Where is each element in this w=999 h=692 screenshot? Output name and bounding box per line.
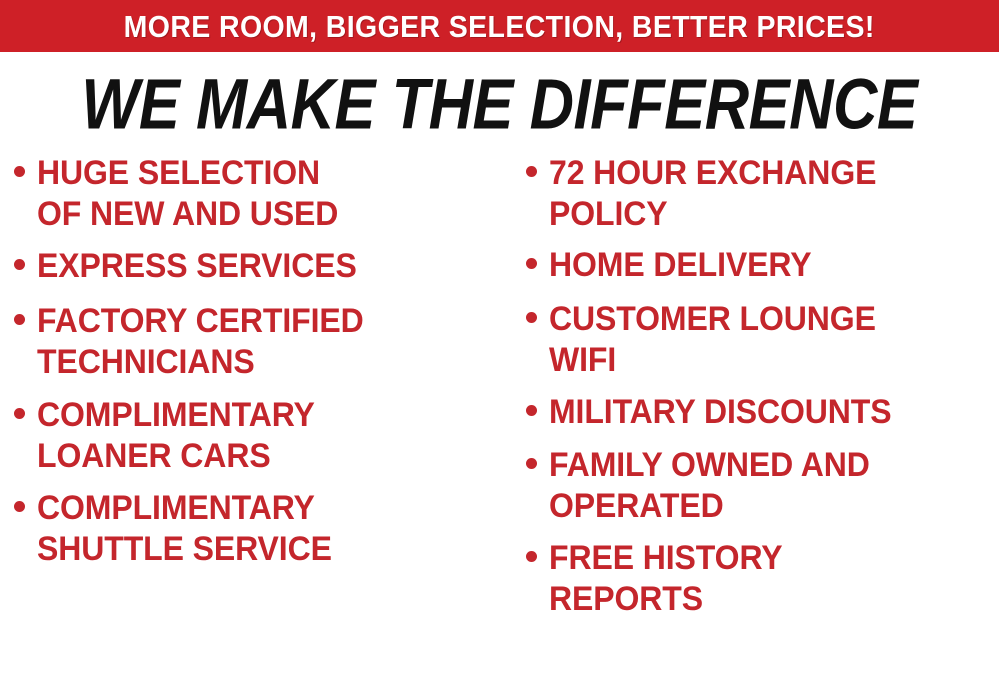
bullet-dot-icon bbox=[14, 501, 25, 512]
list-item-label: HOME DELIVERY bbox=[549, 244, 811, 285]
bullet-dot-icon bbox=[14, 408, 25, 419]
list-item: COMPLIMENTARY SHUTTLE SERVICE bbox=[14, 487, 508, 564]
list-item: EXPRESS SERVICES bbox=[14, 245, 508, 284]
bullet-dot-icon bbox=[526, 551, 537, 562]
list-item: 72 HOUR EXCHANGE POLICY bbox=[526, 152, 999, 229]
list-item-label: MILITARY DISCOUNTS bbox=[549, 391, 892, 432]
list-item: HUGE SELECTION OF NEW AND USED bbox=[14, 152, 508, 229]
list-item-label: FACTORY CERTIFIED TECHNICIANS bbox=[37, 300, 364, 382]
feature-column-right: 72 HOUR EXCHANGE POLICY HOME DELIVERY CU… bbox=[508, 152, 999, 629]
list-item-label: 72 HOUR EXCHANGE POLICY bbox=[549, 152, 876, 234]
feature-columns: HUGE SELECTION OF NEW AND USED EXPRESS S… bbox=[0, 152, 999, 692]
bullet-dot-icon bbox=[526, 405, 537, 416]
list-item-label: EXPRESS SERVICES bbox=[37, 245, 357, 286]
list-item: MILITARY DISCOUNTS bbox=[526, 391, 999, 430]
list-item-label: FAMILY OWNED AND OPERATED bbox=[549, 444, 870, 526]
page-title: WE MAKE THE DIFFERENCE bbox=[82, 68, 918, 140]
list-item-label: FREE HISTORY REPORTS bbox=[549, 537, 783, 619]
bullet-dot-icon bbox=[526, 258, 537, 269]
list-item: CUSTOMER LOUNGE WIFI bbox=[526, 298, 999, 375]
list-item-label: HUGE SELECTION OF NEW AND USED bbox=[37, 152, 338, 234]
list-item: FACTORY CERTIFIED TECHNICIANS bbox=[14, 300, 508, 377]
list-item: HOME DELIVERY bbox=[526, 244, 999, 283]
list-item: FREE HISTORY REPORTS bbox=[526, 537, 999, 614]
list-item: COMPLIMENTARY LOANER CARS bbox=[14, 394, 508, 471]
bullet-dot-icon bbox=[14, 314, 25, 325]
feature-column-left: HUGE SELECTION OF NEW AND USED EXPRESS S… bbox=[0, 152, 508, 580]
bullet-dot-icon bbox=[526, 312, 537, 323]
list-item-label: COMPLIMENTARY SHUTTLE SERVICE bbox=[37, 487, 332, 569]
banner-headline-text: MORE ROOM, BIGGER SELECTION, BETTER PRIC… bbox=[124, 11, 875, 42]
list-item-label: CUSTOMER LOUNGE WIFI bbox=[549, 298, 876, 380]
top-banner: MORE ROOM, BIGGER SELECTION, BETTER PRIC… bbox=[0, 0, 999, 52]
promo-poster: MORE ROOM, BIGGER SELECTION, BETTER PRIC… bbox=[0, 0, 999, 692]
list-item-label: COMPLIMENTARY LOANER CARS bbox=[37, 394, 315, 476]
list-item: FAMILY OWNED AND OPERATED bbox=[526, 444, 999, 521]
bullet-dot-icon bbox=[14, 166, 25, 177]
bullet-dot-icon bbox=[526, 458, 537, 469]
bullet-dot-icon bbox=[526, 166, 537, 177]
bullet-dot-icon bbox=[14, 259, 25, 270]
headline-container: WE MAKE THE DIFFERENCE bbox=[0, 66, 999, 142]
